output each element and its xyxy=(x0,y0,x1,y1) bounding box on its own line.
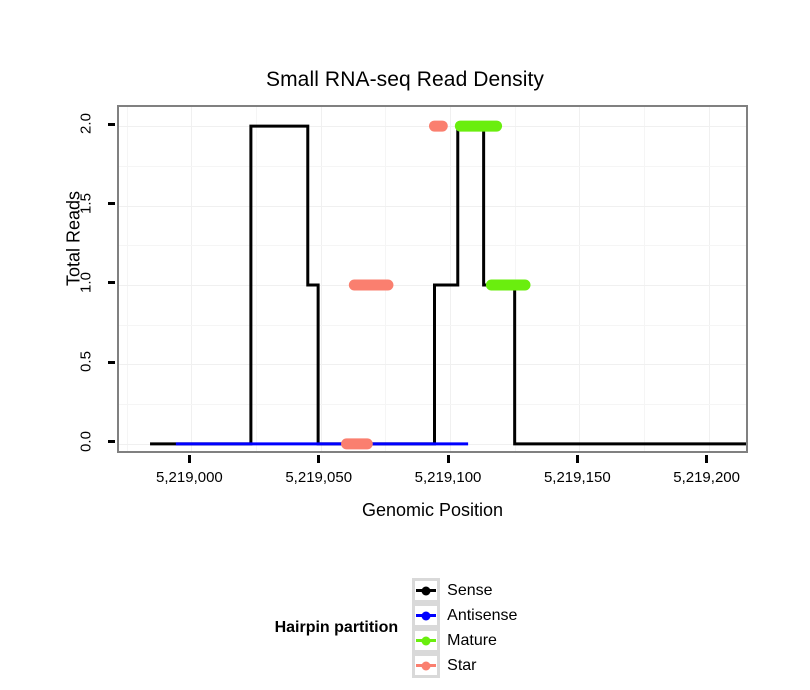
x-axis-tick-label: 5,219,100 xyxy=(415,469,482,486)
legend-item-star[interactable]: Star xyxy=(412,653,531,678)
chart-title: Small RNA-seq Read Density xyxy=(0,68,810,92)
x-axis-tick-label: 5,219,200 xyxy=(673,469,740,486)
x-axis-tick-label: 5,219,000 xyxy=(156,469,223,486)
legend-label: Mature xyxy=(447,632,497,650)
x-axis-tick-label: 5,219,150 xyxy=(544,469,611,486)
legend-label: Antisense xyxy=(447,607,517,625)
x-axis-tick xyxy=(705,455,708,463)
legend-title: Hairpin partition xyxy=(275,619,399,637)
legend-key-star-icon xyxy=(412,653,440,678)
series-canvas xyxy=(119,107,748,453)
legend-key-mature-icon xyxy=(412,628,440,653)
legend-key-antisense-icon xyxy=(412,603,440,628)
y-axis-tick-label: 0.5 xyxy=(78,342,95,382)
legend-item-antisense[interactable]: Antisense xyxy=(412,603,531,628)
y-axis-tick xyxy=(108,202,115,205)
series-line-sense xyxy=(150,126,747,444)
legend-key-dot xyxy=(422,636,431,645)
y-axis-tick-label: 1.0 xyxy=(78,262,95,302)
y-axis-tick xyxy=(108,440,115,443)
legend-item-mature[interactable]: Mature xyxy=(412,628,531,653)
y-axis-tick xyxy=(108,361,115,364)
legend: Hairpin partition SenseAntisenseMatureSt… xyxy=(0,578,810,678)
x-axis-title: Genomic Position xyxy=(117,500,748,521)
y-axis-tick xyxy=(108,281,115,284)
plot-panel xyxy=(117,105,748,453)
y-axis-tick-label: 1.5 xyxy=(78,183,95,223)
x-axis-tick-label: 5,219,050 xyxy=(285,469,352,486)
legend-key-dot xyxy=(422,611,431,620)
legend-label: Star xyxy=(447,657,476,675)
legend-key-dot xyxy=(422,661,431,670)
legend-item-sense[interactable]: Sense xyxy=(412,578,531,603)
legend-items: SenseAntisenseMatureStar xyxy=(412,578,535,678)
legend-key-dot xyxy=(422,586,431,595)
y-axis-tick-label: 2.0 xyxy=(78,104,95,144)
y-axis-tick xyxy=(108,123,115,126)
legend-key-sense-icon xyxy=(412,578,440,603)
x-axis-tick xyxy=(576,455,579,463)
x-axis-tick xyxy=(317,455,320,463)
x-axis-tick xyxy=(447,455,450,463)
x-axis-tick xyxy=(188,455,191,463)
legend-label: Sense xyxy=(447,582,492,600)
data-layer xyxy=(119,107,746,451)
y-axis-tick-label: 0.0 xyxy=(78,421,95,461)
